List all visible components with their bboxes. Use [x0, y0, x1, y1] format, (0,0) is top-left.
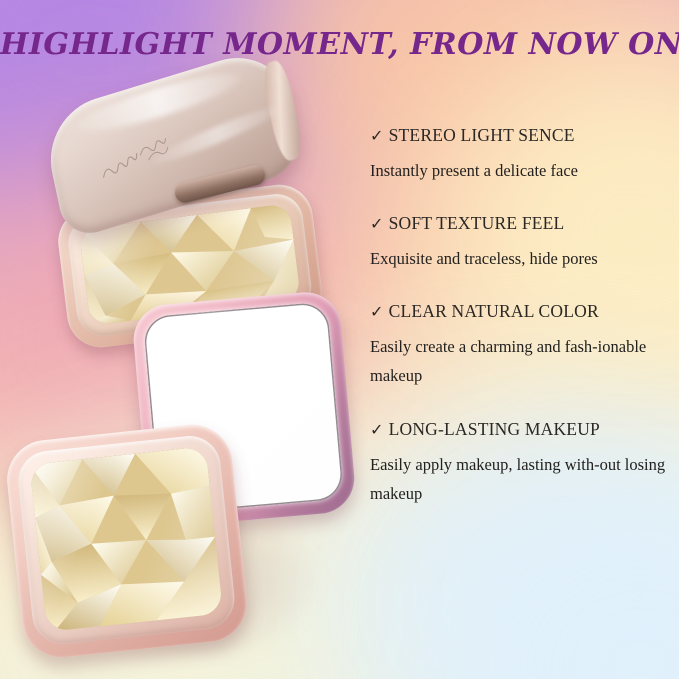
- feature-body: Instantly present a delicate face: [370, 156, 666, 185]
- feature-title: ✓LONG-LASTING MAKEUP: [370, 418, 670, 442]
- product-compact-bottom: [8, 296, 358, 652]
- feature-title-text: SOFT TEXTURE FEEL: [389, 213, 565, 233]
- feature-item: ✓SOFT TEXTURE FEEL Exquisite and tracele…: [370, 212, 670, 273]
- check-icon: ✓: [370, 304, 384, 321]
- check-icon: ✓: [370, 128, 384, 145]
- product-compact-top: [46, 78, 346, 328]
- check-icon: ✓: [370, 216, 384, 233]
- faceted-powder-texture: [29, 446, 223, 632]
- feature-list: ✓STEREO LIGHT SENCE Instantly present a …: [370, 124, 670, 508]
- feature-body: Easily apply makeup, lasting with-out lo…: [370, 450, 666, 509]
- feature-item: ✓STEREO LIGHT SENCE Instantly present a …: [370, 124, 670, 185]
- feature-title-text: STEREO LIGHT SENCE: [389, 125, 575, 145]
- feature-title: ✓STEREO LIGHT SENCE: [370, 124, 670, 148]
- compact-bottom-base: [3, 421, 251, 661]
- page-title: HIGHLIGHT MOMENT, FROM NOW ON: [0, 27, 679, 62]
- feature-item: ✓CLEAR NATURAL COLOR Easily create a cha…: [370, 300, 670, 391]
- check-icon: ✓: [370, 422, 384, 439]
- feature-body: Exquisite and traceless, hide pores: [370, 244, 666, 273]
- feature-title-text: CLEAR NATURAL COLOR: [389, 301, 599, 321]
- compact-bottom-powder-pan: [29, 446, 223, 632]
- feature-title-text: LONG-LASTING MAKEUP: [389, 419, 600, 439]
- feature-body: Easily create a charming and fash-ionabl…: [370, 332, 666, 391]
- feature-title: ✓SOFT TEXTURE FEEL: [370, 212, 670, 236]
- feature-item: ✓LONG-LASTING MAKEUP Easily apply makeup…: [370, 418, 670, 509]
- marketing-image: HIGHLIGHT MOMENT, FROM NOW ON: [0, 0, 679, 679]
- feature-title: ✓CLEAR NATURAL COLOR: [370, 300, 670, 324]
